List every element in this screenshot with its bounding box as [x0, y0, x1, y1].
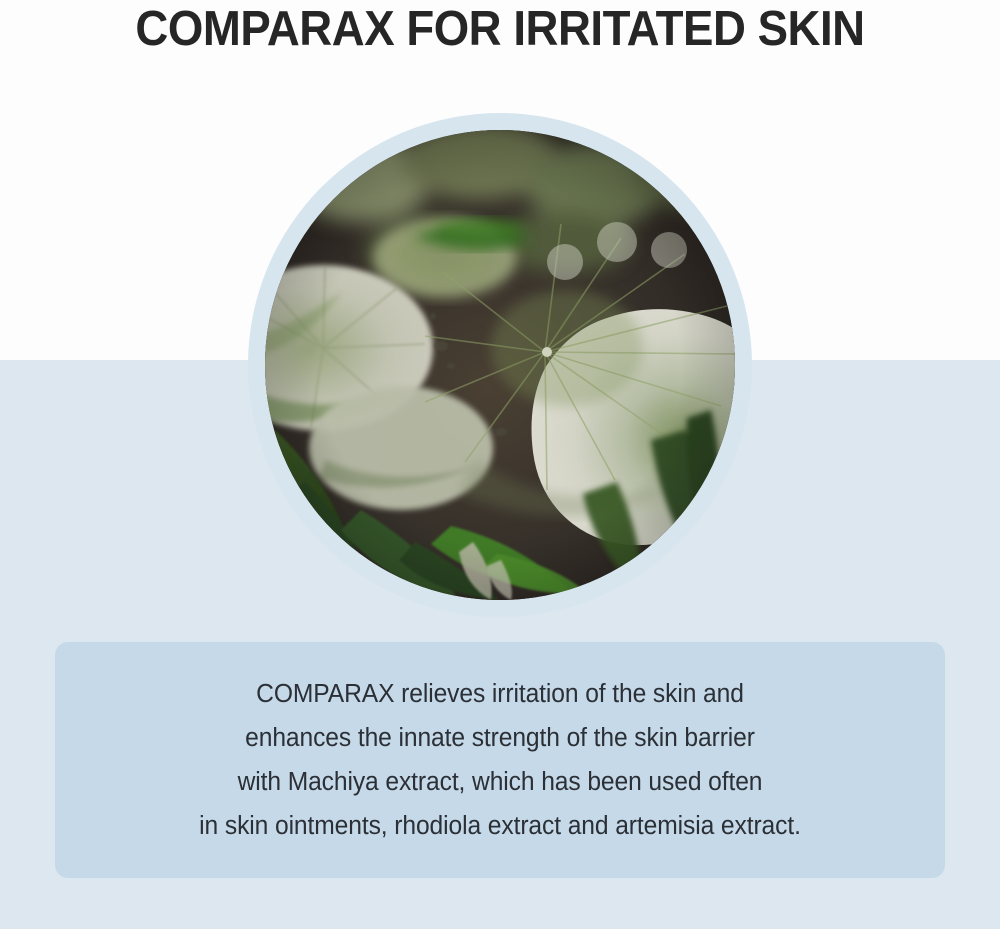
description-panel: COMPARAX relieves irritation of the skin… [55, 642, 945, 878]
centella-leaves-illustration [265, 130, 735, 600]
description-text: COMPARAX relieves irritation of the skin… [71, 672, 930, 848]
hero-image [265, 130, 735, 600]
page-title: COMPARAX FOR IRRITATED SKIN [35, 0, 965, 58]
product-info-page: COMPARAX FOR IRRITATED SKIN [0, 0, 1000, 929]
